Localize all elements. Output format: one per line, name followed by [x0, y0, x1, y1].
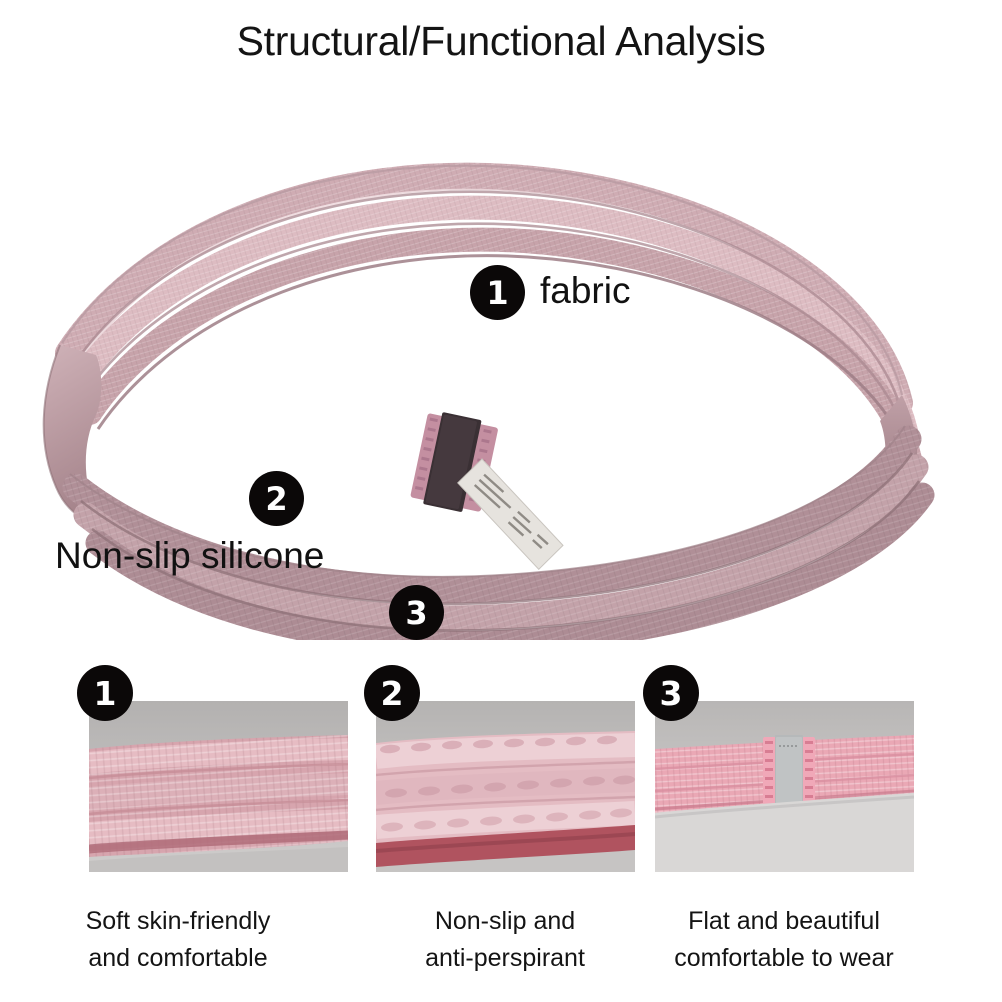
detail-badge-3: 3 — [643, 665, 699, 721]
detail-caption-2: Non-slip and anti-perspirant — [355, 903, 655, 977]
hero-callout-badge-3: 3 — [389, 585, 444, 640]
detail-photo-3 — [655, 701, 914, 872]
detail-badge-2: 2 — [364, 665, 420, 721]
detail-caption-1-line2: and comfortable — [28, 940, 328, 977]
detail-caption-1: Soft skin-friendly and comfortable — [28, 903, 328, 977]
hero-callout-label-1: fabric — [540, 270, 630, 312]
hero-callout-label-2: Non-slip silicone — [55, 535, 324, 577]
hero-callout-badge-2: 2 — [249, 471, 304, 526]
detail-photo-1 — [89, 701, 348, 872]
hero-product-photo: 1 fabric 2 Non-slip silicone 3 stitching… — [0, 95, 1002, 640]
detail-caption-1-line1: Soft skin-friendly — [28, 903, 328, 940]
detail-caption-3-line2: comfortable to wear — [634, 940, 934, 977]
page-title: Structural/Functional Analysis — [0, 18, 1002, 65]
hero-callout-badge-1: 1 — [470, 265, 525, 320]
detail-photo-2 — [376, 701, 635, 872]
detail-caption-3-line1: Flat and beautiful — [634, 903, 934, 940]
detail-caption-2-line1: Non-slip and — [355, 903, 655, 940]
detail-badge-1: 1 — [77, 665, 133, 721]
detail-caption-2-line2: anti-perspirant — [355, 940, 655, 977]
detail-caption-3: Flat and beautiful comfortable to wear — [634, 903, 934, 977]
product-infographic: Structural/Functional Analysis — [0, 0, 1002, 1002]
